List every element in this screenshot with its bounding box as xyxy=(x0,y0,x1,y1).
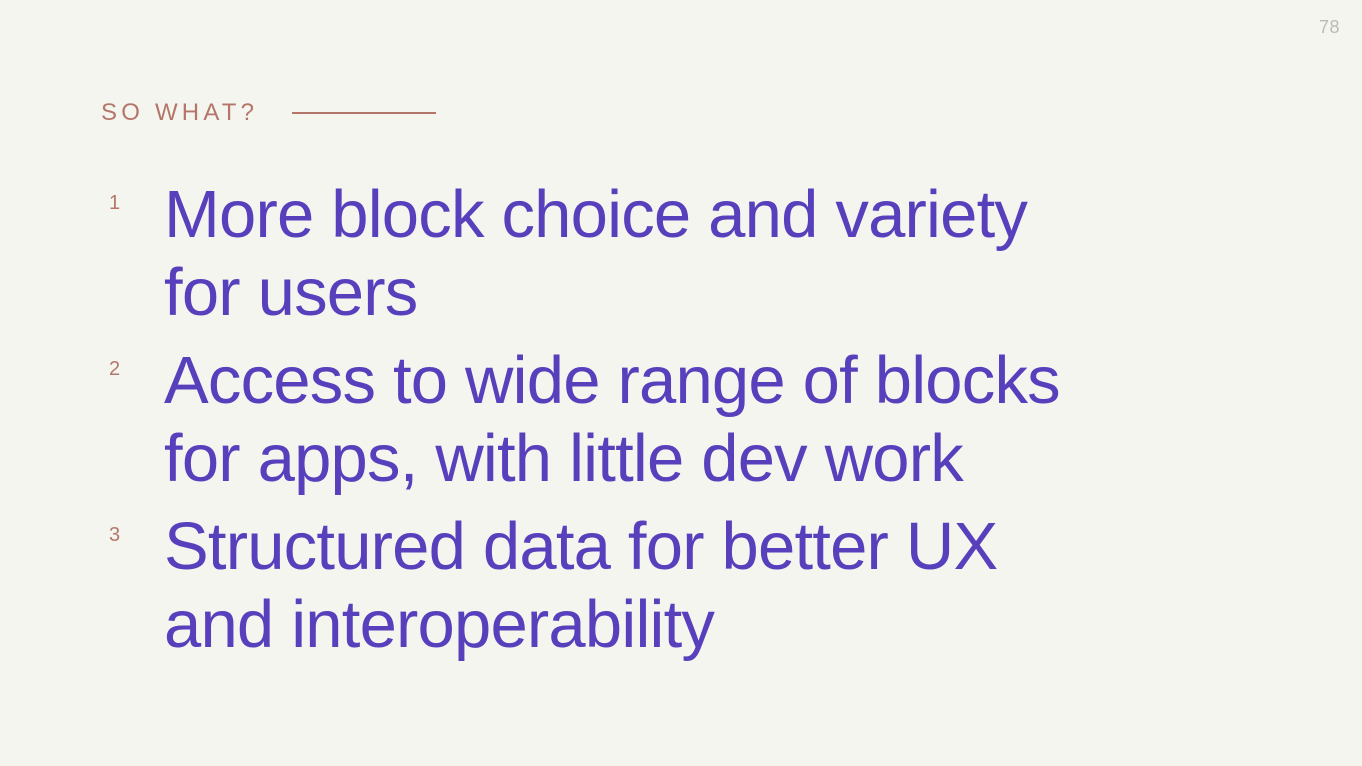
list-item-number: 3 xyxy=(101,508,164,545)
list-item-text: Structured data for better UX and intero… xyxy=(164,508,1302,664)
slide-canvas: 78 SO WHAT? 1 More block choice and vari… xyxy=(0,0,1362,766)
list-item-text: More block choice and variety for users xyxy=(164,176,1302,332)
list-item: 2 Access to wide range of blocks for app… xyxy=(101,342,1302,498)
list-item-number: 1 xyxy=(101,176,164,213)
list-item: 1 More block choice and variety for user… xyxy=(101,176,1302,332)
eyebrow-label: SO WHAT? xyxy=(101,101,258,125)
horizontal-rule-icon xyxy=(292,112,436,114)
list-item-number: 2 xyxy=(101,342,164,379)
page-number: 78 xyxy=(1319,18,1340,36)
numbered-points-list: 1 More block choice and variety for user… xyxy=(101,176,1302,664)
list-item-text: Access to wide range of blocks for apps,… xyxy=(164,342,1302,498)
slide-eyebrow: SO WHAT? xyxy=(101,93,436,133)
list-item: 3 Structured data for better UX and inte… xyxy=(101,508,1302,664)
